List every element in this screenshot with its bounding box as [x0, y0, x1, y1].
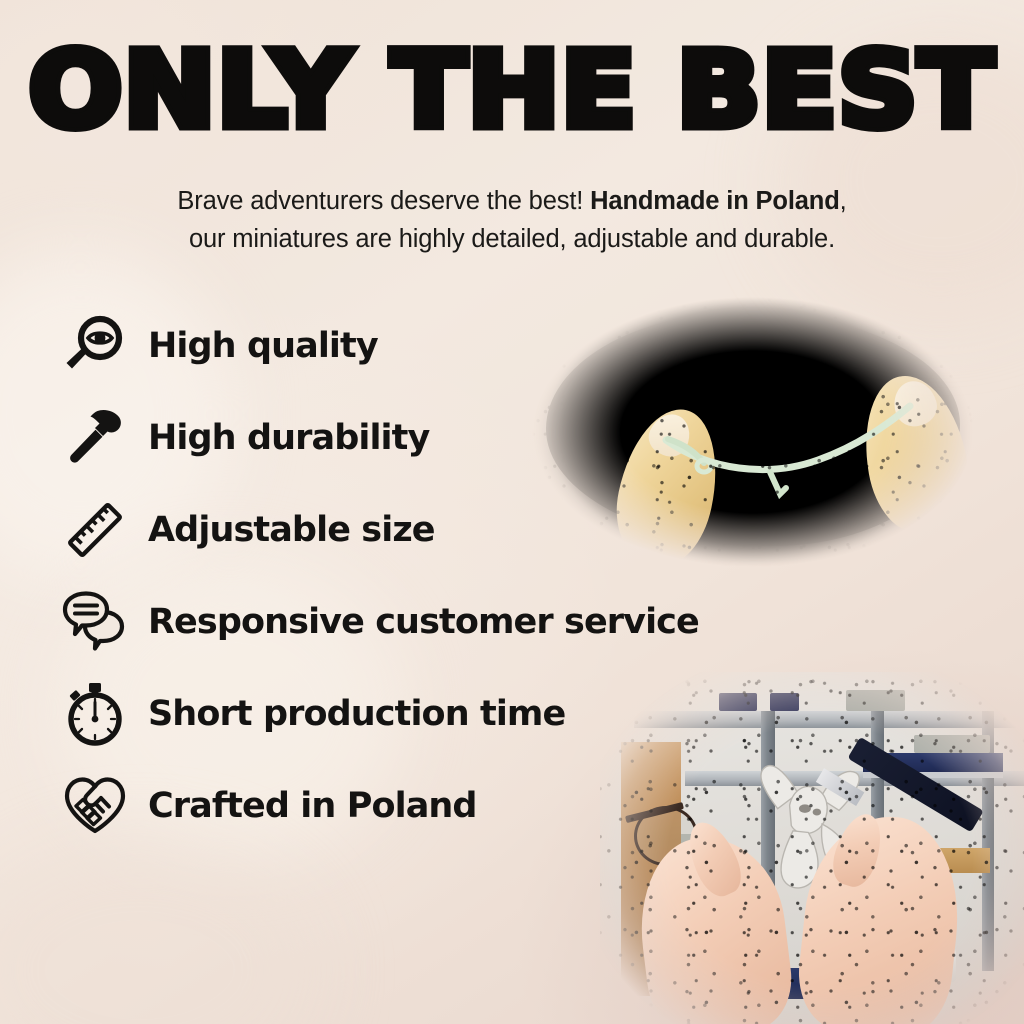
shelf-clutter — [846, 690, 905, 711]
feature-label: High durability — [148, 418, 429, 458]
magnifier-eye-icon — [62, 313, 128, 379]
bg-blotch — [0, 840, 320, 1024]
subtitle: Brave adventurers deserve the best! Hand… — [0, 183, 1024, 258]
bent-miniature-part — [518, 282, 988, 582]
ruler-icon — [62, 497, 128, 563]
flexible-miniature-photo — [518, 282, 988, 582]
feature-label: Short production time — [148, 694, 565, 734]
torn-edge-mask — [518, 282, 988, 582]
workshop-scene — [600, 672, 1024, 1024]
subtitle-lead: Brave adventurers deserve the best! — [177, 187, 590, 215]
heart-handshake-icon — [62, 773, 128, 839]
shelf-clutter — [719, 693, 757, 711]
torn-edge-mask — [600, 672, 1024, 1024]
hammer-icon — [62, 405, 128, 471]
title-block: ONLY THE BEST — [0, 38, 1024, 142]
subtitle-emphasis: Handmade in Poland — [590, 187, 840, 215]
feature-label: High quality — [148, 326, 378, 366]
infographic-page: ONLY THE BEST Brave adventurers deserve … — [0, 0, 1024, 1024]
subtitle-line-2: our miniatures are highly detailed, adju… — [189, 225, 835, 253]
shelf-clutter — [914, 735, 990, 753]
stopwatch-icon — [62, 681, 128, 747]
workshop-painting-photo — [600, 672, 1024, 1024]
shelf-beam — [634, 711, 1024, 729]
feature-item-customer-service: Responsive customer service — [0, 576, 760, 668]
shelf-clutter — [770, 693, 800, 711]
feature-label: Responsive customer service — [148, 602, 699, 642]
subtitle-tail: , — [840, 187, 847, 215]
page-title: ONLY THE BEST — [29, 38, 995, 142]
feature-label: Crafted in Poland — [148, 786, 477, 826]
speech-bubbles-icon — [62, 589, 128, 655]
feature-label: Adjustable size — [148, 510, 435, 550]
